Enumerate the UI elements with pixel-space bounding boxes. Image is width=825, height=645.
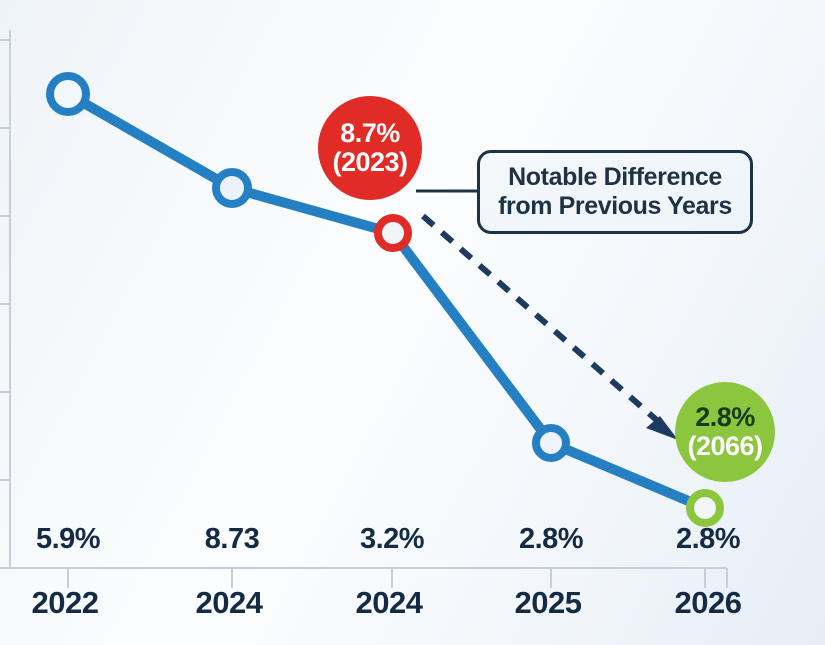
value-label-4: 2.8% bbox=[676, 523, 740, 556]
x-tick-label-1: 2024 bbox=[196, 585, 263, 621]
value-label-0: 5.9% bbox=[36, 523, 100, 556]
green-highlight-bubble[interactable]: 2.8% (2066) bbox=[675, 382, 775, 482]
y-axis-ticks bbox=[0, 40, 10, 480]
red-bubble-value: 8.7% bbox=[340, 119, 400, 148]
x-tick-label-0: 2022 bbox=[32, 585, 99, 621]
value-label-2: 3.2% bbox=[360, 523, 424, 556]
dashed-trend-arrow-head bbox=[646, 416, 678, 440]
data-point-marker-2025[interactable] bbox=[536, 428, 566, 458]
red-highlight-bubble[interactable]: 8.7% (2023) bbox=[318, 96, 422, 200]
callout-line-1: Notable Difference bbox=[508, 163, 722, 192]
data-point-marker-2026[interactable] bbox=[690, 493, 720, 523]
data-point-marker-2024a[interactable] bbox=[216, 172, 248, 204]
data-point-marker-2022[interactable] bbox=[50, 76, 86, 112]
notable-difference-callout[interactable]: Notable Difference from Previous Years bbox=[477, 150, 753, 234]
value-label-3: 2.8% bbox=[519, 523, 583, 556]
red-bubble-year: (2023) bbox=[332, 148, 407, 177]
green-bubble-value: 2.8% bbox=[695, 403, 755, 432]
chart-container: 8.7% (2023) 2.8% (2066) Notable Differen… bbox=[0, 0, 825, 645]
callout-line-2: from Previous Years bbox=[498, 192, 732, 221]
x-tick-label-4: 2026 bbox=[675, 585, 742, 621]
x-tick-label-2: 2024 bbox=[356, 585, 423, 621]
value-label-1: 8.73 bbox=[205, 523, 259, 556]
green-bubble-year: (2066) bbox=[687, 432, 762, 461]
data-point-marker-2024b[interactable] bbox=[378, 218, 408, 248]
x-tick-label-3: 2025 bbox=[515, 585, 582, 621]
